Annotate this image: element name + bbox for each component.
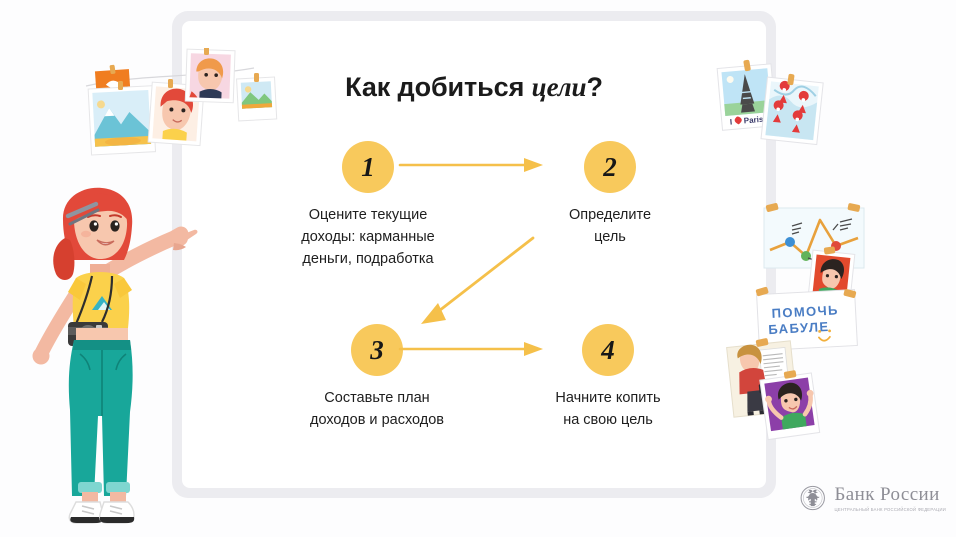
double-headed-eagle-emblem-icon	[800, 479, 826, 517]
photo-collage-bottom-right	[718, 336, 838, 441]
step-3-number-badge: 3	[351, 324, 403, 376]
arrow-step2-to-step3-icon	[405, 232, 545, 332]
logo-subtitle: ЦЕНТРАЛЬНЫЙ БАНК РОССИЙСКОЙ ФЕДЕРАЦИИ	[835, 507, 947, 512]
step-4-number-badge: 4	[582, 324, 634, 376]
arrow-step1-to-step2-icon	[398, 150, 548, 180]
boy-portrait-photo	[185, 49, 235, 103]
mountain-landscape-photo	[88, 86, 155, 155]
logo-name: Банк России	[835, 485, 947, 504]
step-2-label: Определите цель	[530, 204, 690, 248]
map-with-pins-photo	[761, 77, 823, 145]
girl-pointing-illustration	[18, 186, 200, 526]
title-part-tail: ?	[586, 72, 602, 102]
arrow-step3-to-step4-icon	[398, 334, 548, 364]
photo-collage-top-left	[78, 48, 278, 173]
step-2-number-badge: 2	[584, 141, 636, 193]
cheering-girl-polaroid	[760, 373, 820, 440]
slide-canvas: Как добиться цели? 1 Оцените текущие дох…	[0, 0, 956, 537]
step-4: 4 Начните копить на свою цель	[528, 324, 688, 431]
note-line-2: БАБУЛЕ	[768, 319, 830, 337]
photo-collage-top-right: I Paris	[712, 52, 832, 152]
svg-text:Paris: Paris	[743, 115, 764, 126]
bank-of-russia-logo: Банк России ЦЕНТРАЛЬНЫЙ БАНК РОССИЙСКОЙ …	[800, 474, 946, 522]
title-part-italic: цели	[532, 72, 587, 102]
step-4-label: Начните копить на свою цель	[528, 387, 688, 431]
step-3-label: Составьте план доходов и расходов	[282, 387, 472, 431]
small-landscape-polaroid	[237, 77, 277, 121]
title-part-regular: Как добиться	[345, 72, 532, 102]
step-1-number-badge: 1	[342, 141, 394, 193]
step-2: 2 Определите цель	[530, 141, 690, 248]
